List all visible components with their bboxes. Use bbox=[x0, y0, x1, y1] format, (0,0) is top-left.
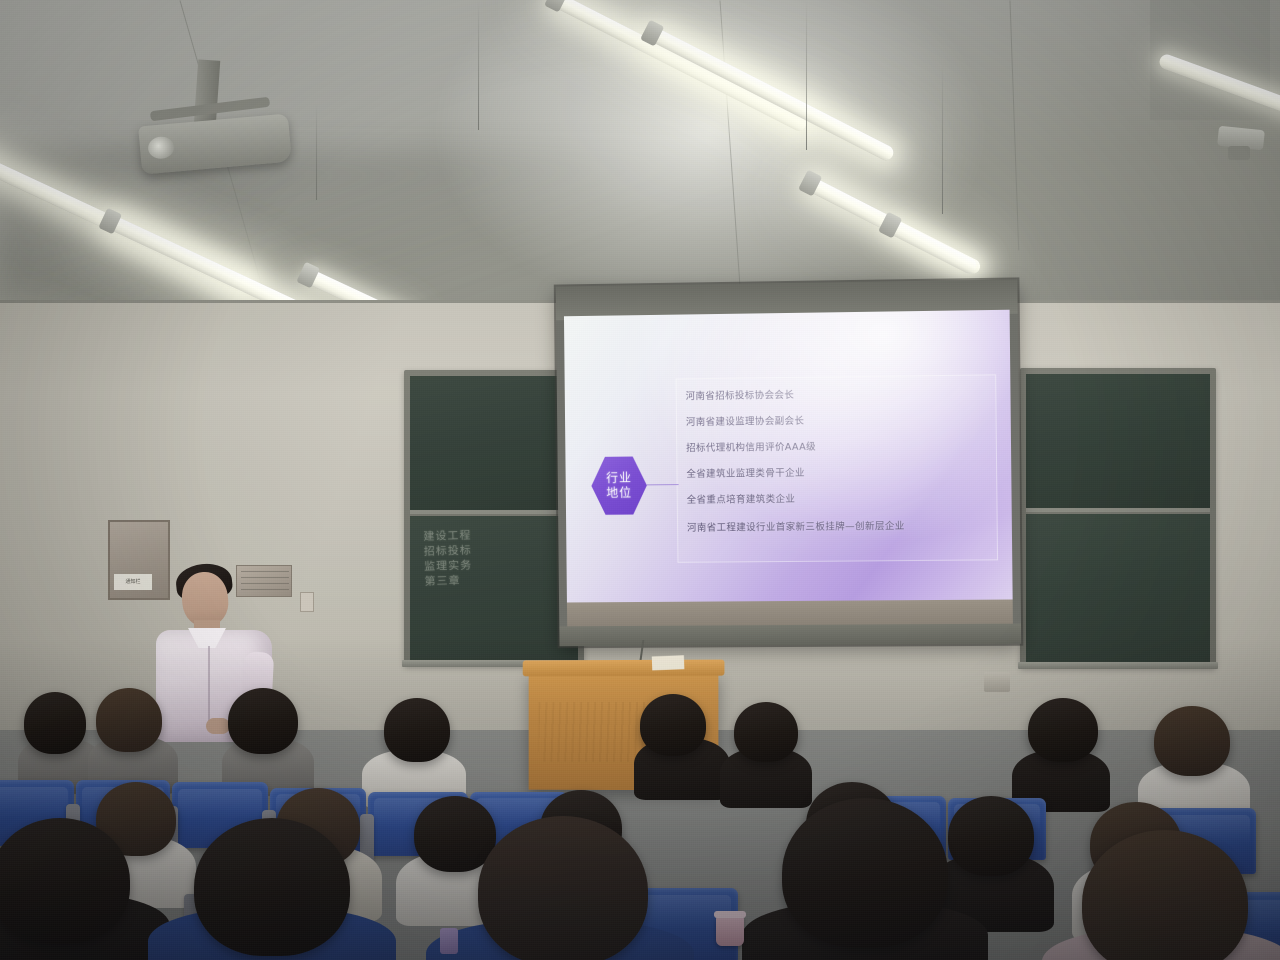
presentation-slide: 行业 地位 河南省招标投标协会会长 河南省建设监理协会副会长 招标代理机构信用评… bbox=[564, 310, 1013, 603]
screen-lower-band bbox=[567, 599, 1013, 626]
slide-bullet-4: 全省建筑业监理类骨干企业 bbox=[686, 465, 805, 480]
slide-bullet-3: 招标代理机构信用评价AAA级 bbox=[686, 439, 816, 454]
slide-bullet-1: 河南省招标投标协会会长 bbox=[686, 387, 795, 402]
blackboard-split bbox=[410, 510, 578, 514]
audience-head bbox=[1154, 706, 1230, 776]
projector-mount bbox=[194, 59, 221, 126]
audience-head-foreground bbox=[194, 818, 350, 956]
light-switch[interactable] bbox=[300, 592, 314, 612]
phone-device[interactable] bbox=[440, 928, 458, 954]
hexagon-badge: 行业 地位 bbox=[591, 455, 647, 517]
audience-head-foreground bbox=[782, 798, 948, 948]
hexagon-badge-line2: 地位 bbox=[606, 486, 632, 501]
hexagon-badge-line1: 行业 bbox=[606, 471, 632, 486]
audience-head bbox=[414, 796, 496, 872]
blackboard-split bbox=[1026, 508, 1210, 512]
hexagon-connector-line bbox=[647, 484, 679, 485]
lecture-hall-photo: 建设工程 招标投标 监理实务 第三章 通知栏 行业 地位 河南省招标投标协会会长… bbox=[0, 0, 1280, 960]
audience-head-foreground bbox=[478, 816, 648, 960]
light-hanger-wire bbox=[942, 64, 943, 214]
audience-head-foreground bbox=[0, 818, 130, 944]
light-hanger-wire bbox=[316, 104, 317, 200]
slide-bullet-2: 河南省建设监理协会副会长 bbox=[686, 413, 805, 428]
audience-head bbox=[96, 688, 162, 752]
audience-head bbox=[948, 796, 1034, 876]
ceiling-fixture-right-body bbox=[1228, 146, 1250, 160]
cup-lid bbox=[714, 911, 746, 918]
projection-screen: 行业 地位 河南省招标投标协会会长 河南省建设监理协会副会长 招标代理机构信用评… bbox=[556, 279, 1021, 646]
audience-head bbox=[228, 688, 298, 754]
projector-lens-icon bbox=[147, 136, 175, 160]
audience-head bbox=[384, 698, 450, 762]
slide-bullet-5: 全省重点培育建筑类企业 bbox=[687, 491, 796, 506]
light-hanger-wire bbox=[478, 0, 479, 130]
blackboard-left-upper bbox=[410, 376, 578, 510]
blackboard-left-lower bbox=[410, 516, 578, 660]
slide-bullet-6: 河南省工程建设行业首家新三板挂牌—创新层企业 bbox=[687, 518, 905, 534]
light-hanger-wire bbox=[806, 0, 807, 150]
pink-cup bbox=[716, 916, 744, 946]
audience-head bbox=[640, 694, 706, 756]
audience-head bbox=[734, 702, 798, 762]
ceiling-light-glow bbox=[430, 0, 990, 320]
blackboard-right-upper bbox=[1026, 374, 1210, 508]
audience-area bbox=[0, 640, 1280, 960]
audience-head bbox=[1028, 698, 1098, 762]
audience-head bbox=[24, 692, 86, 754]
